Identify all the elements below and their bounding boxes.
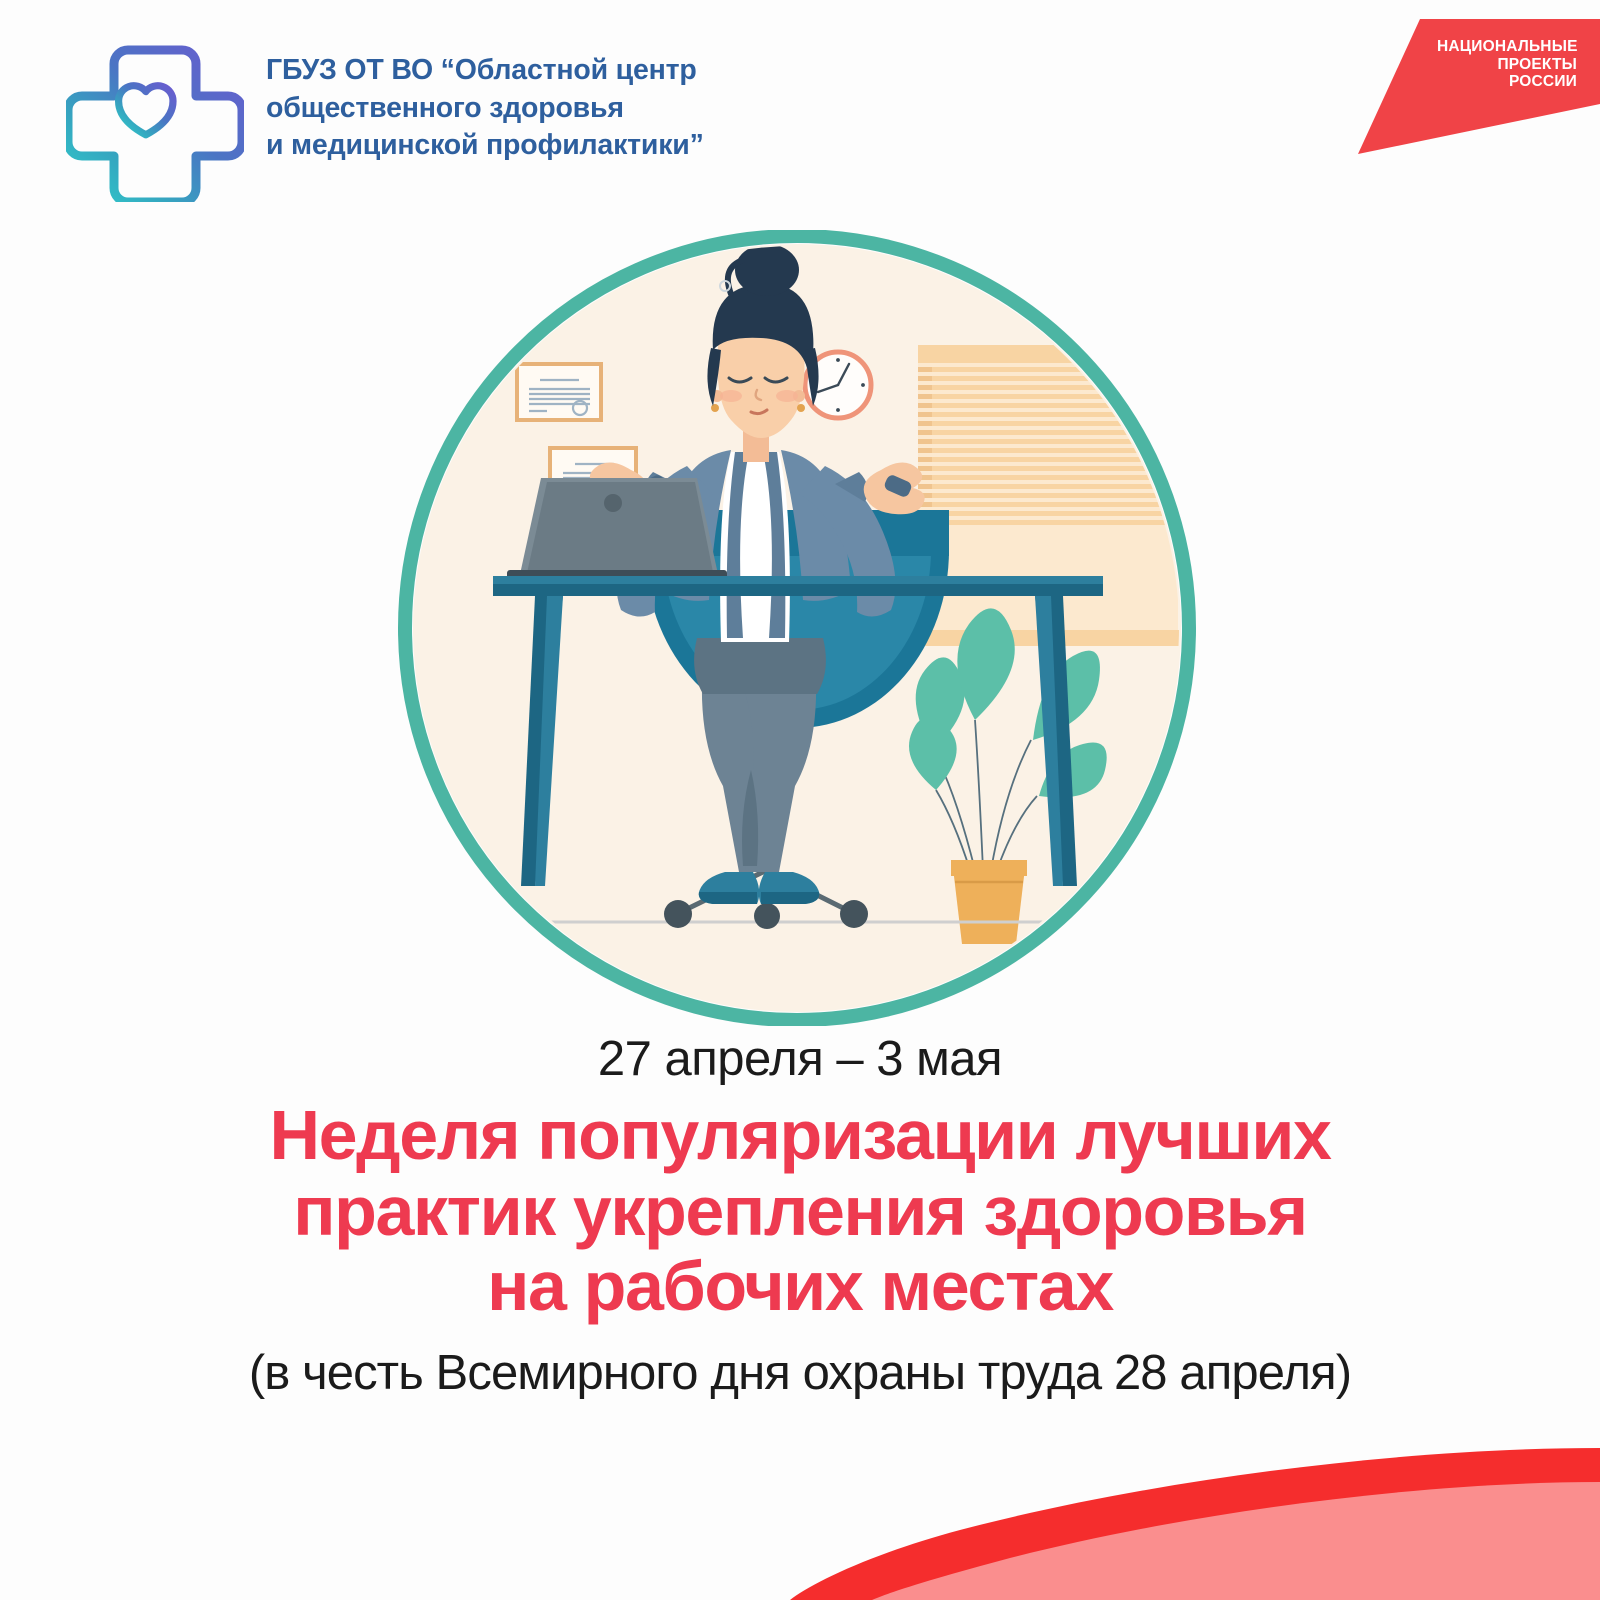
page-title: Неделя популяризации лучших практик укре… (60, 1098, 1540, 1325)
medical-cross-with-heart-icon (66, 34, 244, 202)
national-projects-label: НАЦИОНАЛЬНЫЕ ПРОЕКТЫ РОССИИ (1437, 38, 1577, 91)
poster-canvas: ГБУЗ ОТ ВО “Областной центр общественног… (0, 0, 1600, 1600)
laptop (507, 478, 727, 588)
national-projects-badge: НАЦИОНАЛЬНЫЕ ПРОЕКТЫ РОССИИ (1348, 14, 1600, 194)
wall-certificate-top (517, 364, 601, 420)
organization-name: ГБУЗ ОТ ВО “Областной центр общественног… (266, 34, 704, 165)
subtitle-text: (в честь Всемирного дня охраны труда 28 … (40, 1345, 1560, 1401)
woman-meditating-illustration (395, 230, 1200, 1026)
date-range-text: 27 апреля – 3 мая (0, 1031, 1600, 1087)
illustration-svg (395, 230, 1200, 1026)
organization-header: ГБУЗ ОТ ВО “Областной центр общественног… (66, 34, 704, 202)
